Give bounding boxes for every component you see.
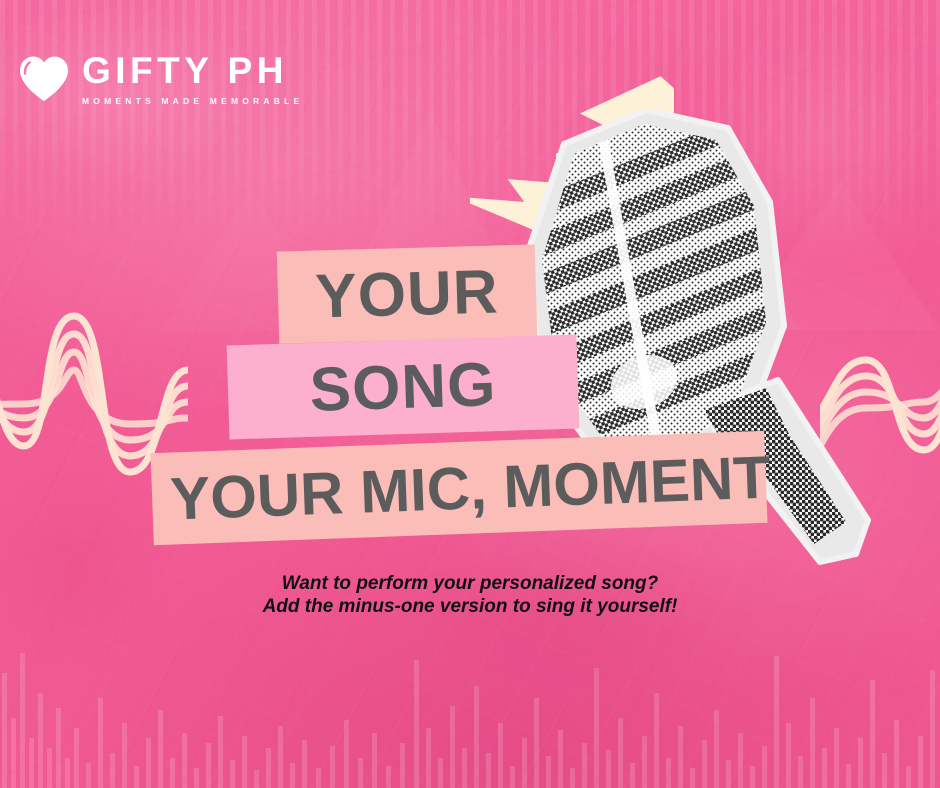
brand-name: GIFTY PH: [82, 52, 303, 89]
logo-text-block: GIFTY PH MOMENTS MADE MEMORABLE: [82, 52, 303, 106]
headline-text-2: SONG: [309, 349, 498, 426]
headline-text-3: YOUR MIC, MOMENT: [169, 442, 771, 533]
subtitle-line-1: Want to perform your personalized song?: [0, 572, 940, 595]
subtitle-block: Want to perform your personalized song? …: [0, 572, 940, 618]
headline-band-1: YOUR: [277, 244, 537, 343]
headline-band-2: SONG: [227, 335, 580, 440]
subtitle-line-2: Add the minus-one version to sing it you…: [0, 595, 940, 618]
headline-text-1: YOUR: [314, 256, 499, 332]
promo-poster: GIFTY PH MOMENTS MADE MEMORABLE: [0, 0, 940, 788]
brand-tagline: MOMENTS MADE MEMORABLE: [82, 96, 303, 106]
brand-logo: GIFTY PH MOMENTS MADE MEMORABLE: [18, 52, 303, 106]
heart-icon: [18, 55, 70, 103]
